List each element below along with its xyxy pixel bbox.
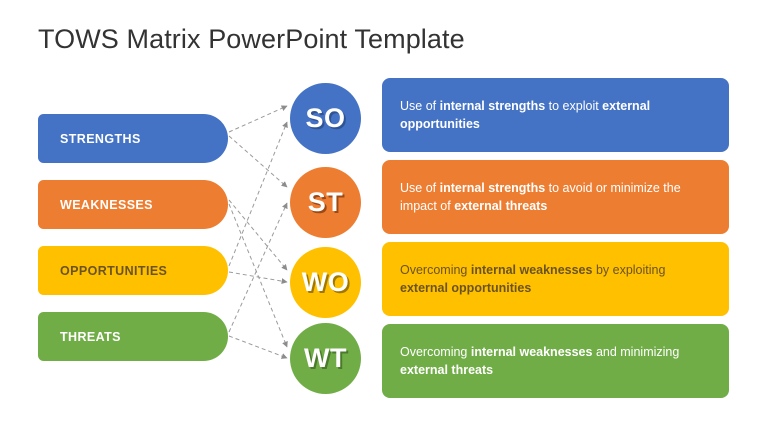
strategy-panel-wt[interactable]: Overcoming internal weaknesses and minim… — [382, 324, 729, 398]
connector-weaknesses-wo — [229, 200, 287, 270]
category-label-opportunities: OPPORTUNITIES — [60, 264, 167, 278]
strategy-description-wo: Overcoming internal weaknesses by exploi… — [400, 261, 711, 297]
connector-threats-wt — [229, 336, 287, 358]
connector-weaknesses-wt — [229, 204, 287, 347]
connector-opportunities-so — [229, 122, 287, 266]
page-title: TOWS Matrix PowerPoint Template — [38, 24, 465, 55]
category-pill-threats[interactable]: THREATS — [38, 312, 228, 361]
strategy-description-st: Use of internal strengths to avoid or mi… — [400, 179, 711, 215]
strategy-description-wt: Overcoming internal weaknesses and minim… — [400, 343, 711, 379]
strategy-code-wo: WO — [302, 269, 350, 296]
connector-strengths-st — [229, 136, 287, 187]
connector-opportunities-wo — [229, 272, 287, 282]
category-pill-opportunities[interactable]: OPPORTUNITIES — [38, 246, 228, 295]
strategy-description-so: Use of internal strengths to exploit ext… — [400, 97, 711, 133]
category-pill-strengths[interactable]: STRENGTHS — [38, 114, 228, 163]
strategy-circle-wo[interactable]: WO — [290, 247, 361, 318]
strategy-panel-wo[interactable]: Overcoming internal weaknesses by exploi… — [382, 242, 729, 316]
category-pill-weaknesses[interactable]: WEAKNESSES — [38, 180, 228, 229]
category-label-threats: THREATS — [60, 330, 121, 344]
strategy-panel-st[interactable]: Use of internal strengths to avoid or mi… — [382, 160, 729, 234]
strategy-circle-so[interactable]: SO — [290, 83, 361, 154]
strategy-code-st: ST — [308, 189, 344, 216]
connector-threats-st — [229, 203, 287, 332]
strategy-circle-wt[interactable]: WT — [290, 323, 361, 394]
tows-matrix-slide: TOWS Matrix PowerPoint Template STRENGTH… — [0, 0, 768, 432]
category-label-strengths: STRENGTHS — [60, 132, 141, 146]
strategy-panel-so[interactable]: Use of internal strengths to exploit ext… — [382, 78, 729, 152]
category-label-weaknesses: WEAKNESSES — [60, 198, 153, 212]
strategy-code-wt: WT — [304, 345, 347, 372]
strategy-circle-st[interactable]: ST — [290, 167, 361, 238]
strategy-code-so: SO — [305, 105, 345, 132]
connector-strengths-so — [229, 106, 287, 132]
